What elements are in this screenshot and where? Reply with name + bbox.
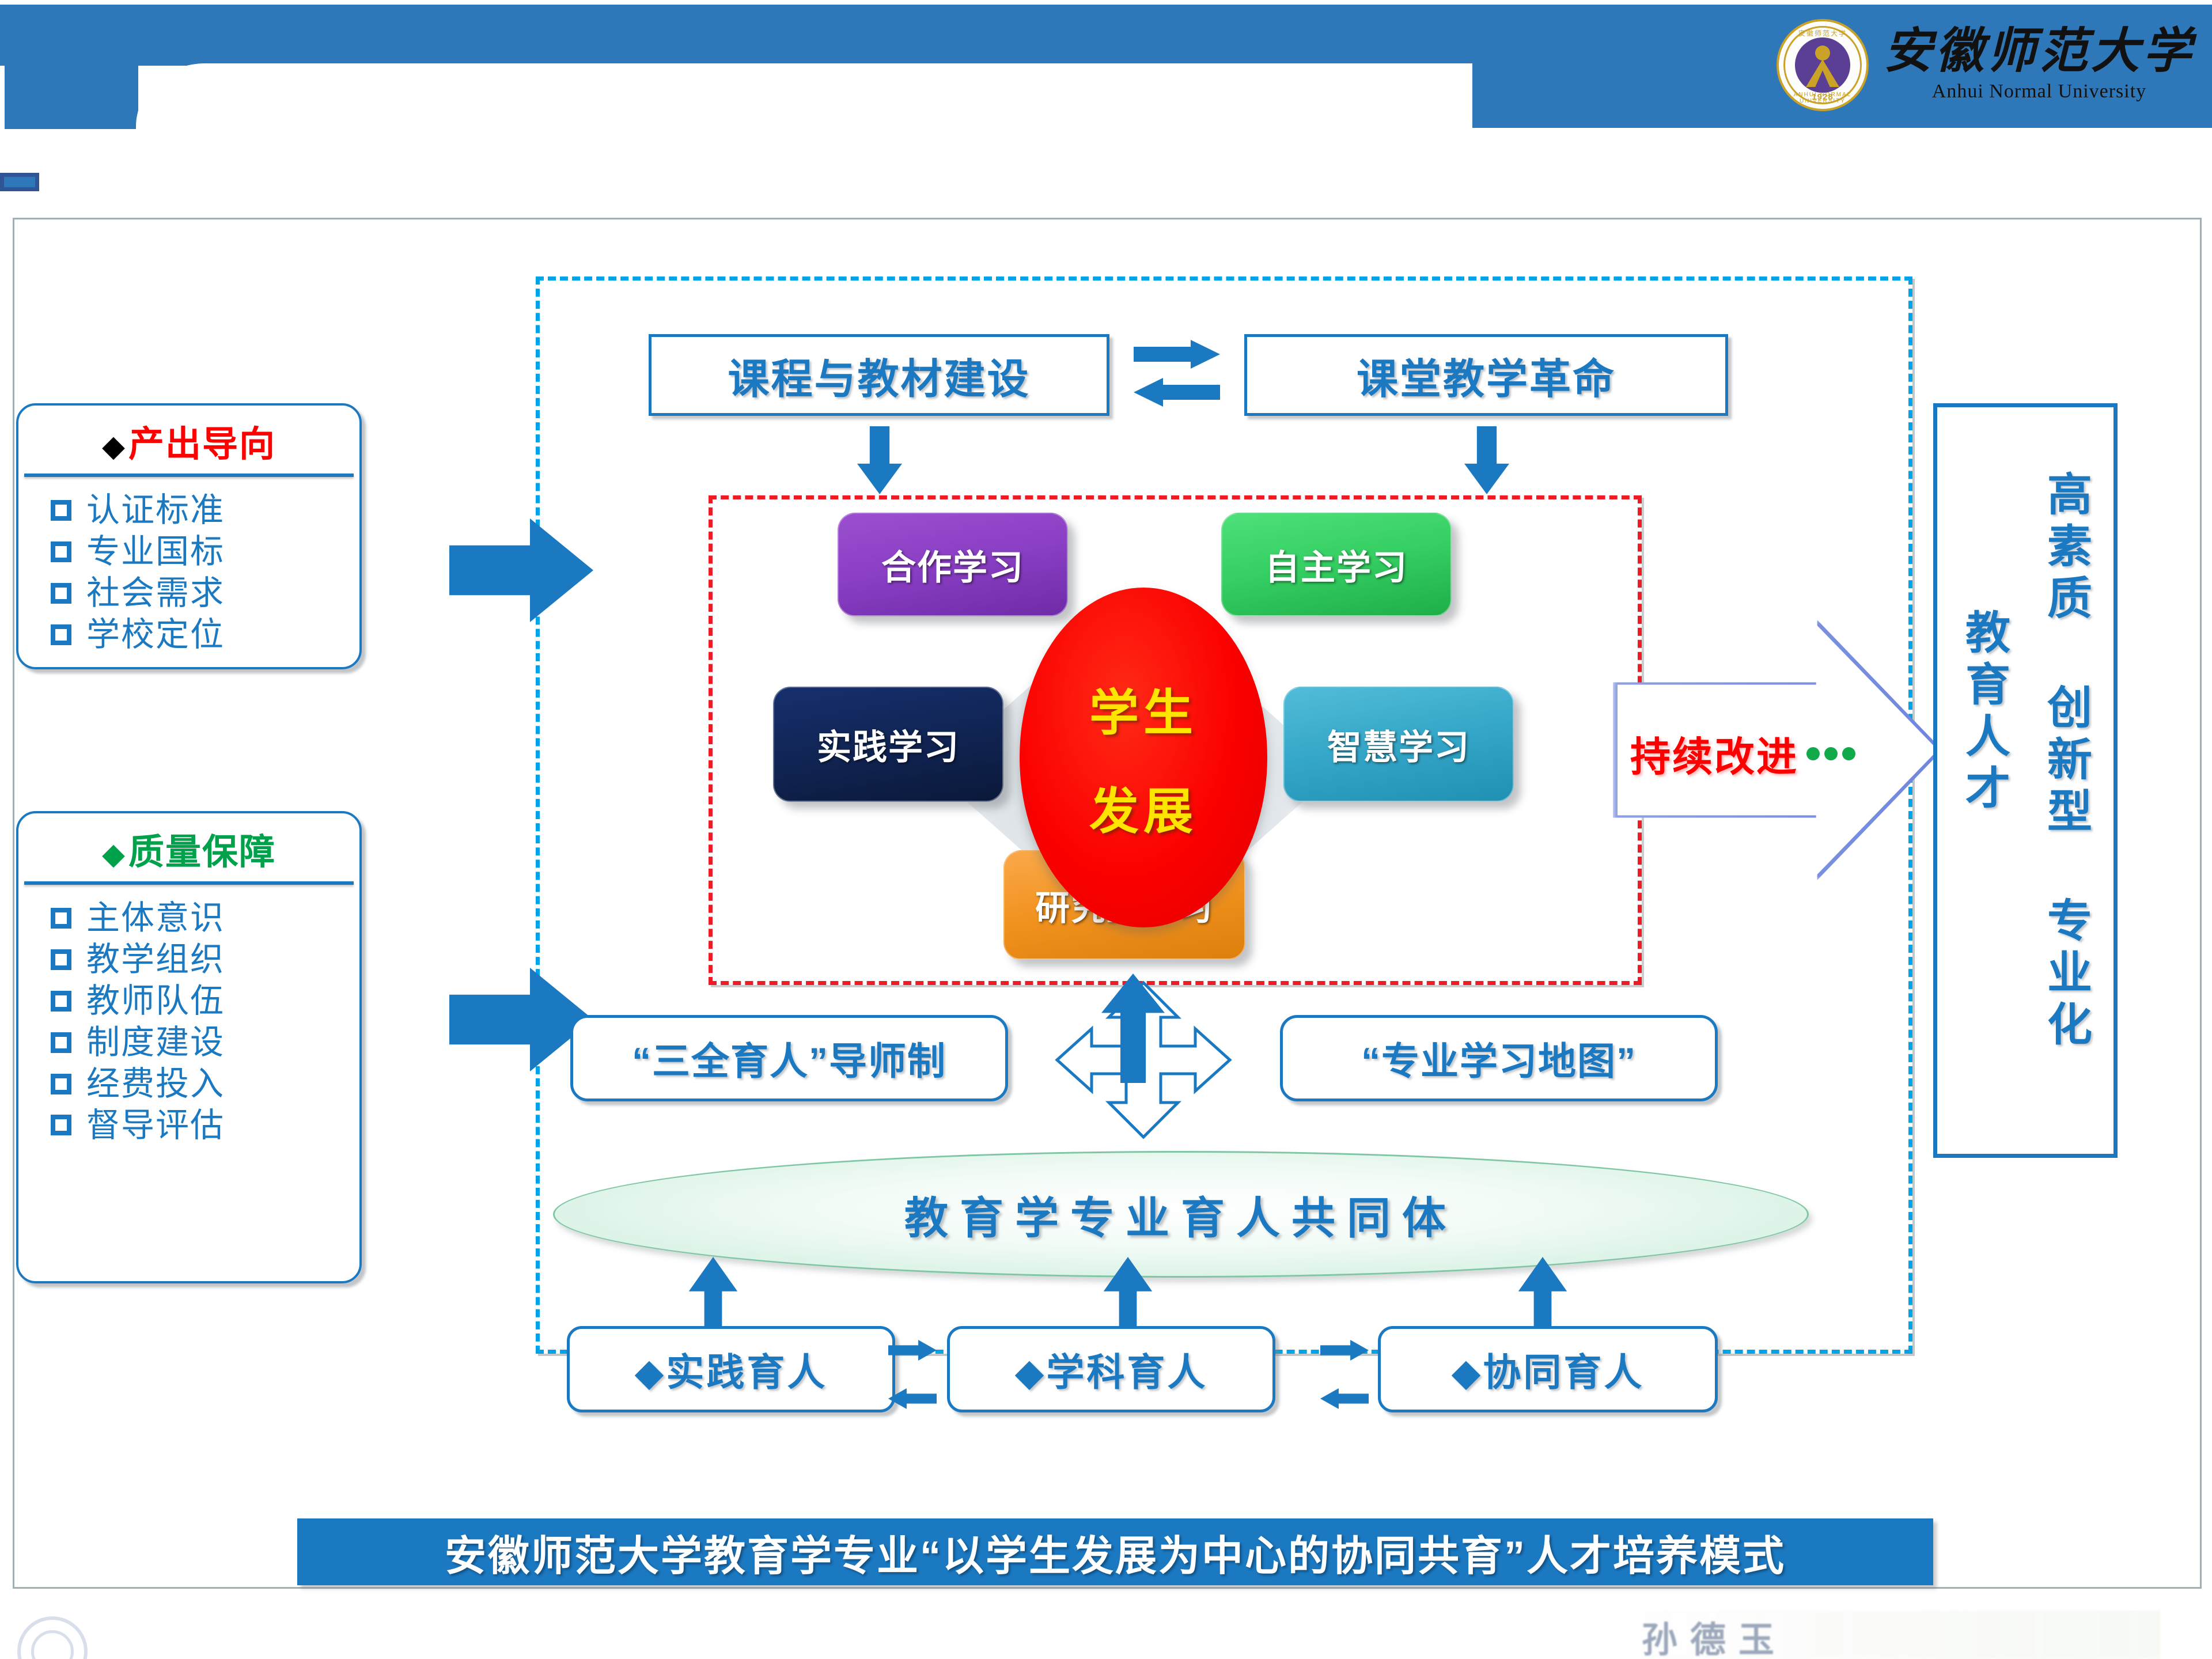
checkbox-icon <box>51 908 71 929</box>
box-discipline-education[interactable]: ◆学科育人 <box>947 1326 1275 1412</box>
node-label: 合作学习 <box>881 540 1024 590</box>
checkbox-icon <box>51 1074 71 1094</box>
card-quality-list: 主体意识 教学组织 教师队伍 制度建设 经费投入 督导评估 <box>18 885 359 1156</box>
seal-core <box>1795 37 1850 93</box>
node-label: 自主学习 <box>1265 540 1408 590</box>
checkbox-icon <box>51 541 71 562</box>
box-classroom-revolution[interactable]: 课堂教学革命 <box>1244 334 1728 416</box>
card-quality-title: ◆质量保障 <box>18 813 359 881</box>
box-curriculum-textbook[interactable]: 课程与教材建设 <box>649 334 1109 416</box>
arrow-right-icon <box>1134 340 1220 369</box>
pill-mentor-label: “三全育人”导师制 <box>632 1031 946 1086</box>
list-item[interactable]: 教师队伍 <box>51 980 359 1022</box>
box-collaborative-education[interactable]: ◆协同育人 <box>1378 1326 1718 1412</box>
card-output-title: ◆产出导向 <box>18 406 359 474</box>
box-classroom-label: 课堂教学革命 <box>1357 345 1616 406</box>
list-item[interactable]: 认证标准 <box>51 490 359 531</box>
seal-bottom-text: ANHUI NORMAL UNIVERSITY <box>1779 92 1866 104</box>
card-output-orientation[interactable]: ◆产出导向 认证标准 专业国标 社会需求 学校定位 <box>16 403 362 669</box>
list-item-label: 制度建设 <box>86 1022 225 1063</box>
box-practice-label: ◆实践育人 <box>635 1342 828 1397</box>
card-output-list: 认证标准 专业国标 社会需求 学校定位 <box>18 477 359 666</box>
arrow-right-icon <box>1320 1340 1369 1361</box>
core-label-line2: 发展 <box>1089 771 1198 843</box>
node-autonomous-learning[interactable]: 自主学习 <box>1221 513 1452 616</box>
community-ellipse[interactable]: 教育学专业育人共同体 <box>553 1151 1809 1278</box>
university-name-cn: 安徽师范大学 <box>1884 28 2195 76</box>
list-item-label: 教师队伍 <box>86 980 225 1022</box>
core-label-line1: 学生 <box>1089 672 1198 744</box>
outcome-box[interactable]: 高素质 创新型 专业化 教育人才 <box>1933 403 2118 1158</box>
continuous-improvement-label: 持续改进 <box>1630 725 1798 783</box>
slide-caption-banner: 安徽师范大学教育学专业“以学生发展为中心的协同共育”人才培养模式 <box>297 1518 1933 1585</box>
list-item[interactable]: 制度建设 <box>51 1022 359 1063</box>
card-quality-title-text: 质量保障 <box>128 832 276 872</box>
checkbox-icon <box>51 991 71 1012</box>
university-seal-icon: 安徽师范大学 1928 ANHUI NORMAL UNIVERSITY <box>1777 19 1869 111</box>
node-smart-learning[interactable]: 智慧学习 <box>1283 687 1514 802</box>
list-item[interactable]: 社会需求 <box>51 573 359 614</box>
checkbox-icon <box>51 583 71 604</box>
list-item[interactable]: 经费投入 <box>51 1063 359 1105</box>
bidirectional-arrows-icon <box>1320 1340 1372 1409</box>
university-name-block: 安徽师范大学 Anhui Normal University <box>1884 28 2195 103</box>
ellipsis-dots-icon <box>1806 747 1855 760</box>
checkbox-icon <box>51 500 71 521</box>
arrow-left-icon <box>1320 1388 1369 1409</box>
node-cooperative-learning[interactable]: 合作学习 <box>838 513 1068 616</box>
community-label: 教育学专业育人共同体 <box>904 1183 1457 1246</box>
university-logo: 安徽师范大学 1928 ANHUI NORMAL UNIVERSITY 安徽师范… <box>1777 16 2195 114</box>
node-practice-learning[interactable]: 实践学习 <box>773 687 1003 802</box>
checkbox-icon <box>51 624 71 645</box>
university-name-en: Anhui Normal University <box>1932 81 2146 103</box>
diamond-icon: ◆ <box>102 838 126 871</box>
list-item-label: 社会需求 <box>86 573 225 614</box>
core-student-development[interactable]: 学生 发展 <box>1020 588 1267 927</box>
continuous-improvement-label-wrap: 持续改进 <box>1630 725 1907 783</box>
list-item-label: 认证标准 <box>86 490 225 531</box>
box-collaborative-label: ◆协同育人 <box>1452 1342 1645 1397</box>
watermark-right-text: 孙德玉 <box>1642 1611 2160 1659</box>
bidirectional-arrows-icon <box>888 1340 940 1409</box>
checkbox-icon <box>51 1032 71 1053</box>
seal-figure-icon <box>1806 59 1839 87</box>
list-item-label: 学校定位 <box>86 614 225 656</box>
outcome-column-2: 教育人才 <box>1952 609 2017 816</box>
bidirectional-arrows-icon <box>1129 335 1233 416</box>
watermark-left-logo <box>6 1613 144 1659</box>
box-practice-education[interactable]: ◆实践育人 <box>567 1326 895 1412</box>
arrow-right-icon <box>888 1340 937 1361</box>
header-notch <box>136 63 1472 132</box>
list-item[interactable]: 学校定位 <box>51 614 359 656</box>
pill-learning-map[interactable]: “专业学习地图” <box>1280 1015 1718 1101</box>
arrow-left-icon <box>888 1388 937 1409</box>
outcome-column-1: 高素质 创新型 专业化 <box>2034 471 2099 1052</box>
pill-map-label: “专业学习地图” <box>1361 1031 1637 1086</box>
arrow-left-icon <box>1134 378 1220 407</box>
box-discipline-label: ◆学科育人 <box>1015 1342 1208 1397</box>
list-item-label: 经费投入 <box>86 1063 225 1105</box>
checkbox-icon <box>51 1115 71 1135</box>
list-item[interactable]: 教学组织 <box>51 939 359 980</box>
node-label: 智慧学习 <box>1327 719 1470 770</box>
list-item-label: 主体意识 <box>86 897 225 939</box>
card-quality-assurance[interactable]: ◆质量保障 主体意识 教学组织 教师队伍 制度建设 经费投入 督导评估 <box>16 811 362 1283</box>
diamond-icon: ◆ <box>102 430 126 463</box>
pill-mentor-system[interactable]: “三全育人”导师制 <box>570 1015 1008 1101</box>
list-item-label: 专业国标 <box>86 531 225 573</box>
list-item[interactable]: 专业国标 <box>51 531 359 573</box>
list-item[interactable]: 主体意识 <box>51 897 359 939</box>
checkbox-icon <box>51 949 71 970</box>
box-curriculum-label: 课程与教材建设 <box>728 345 1030 406</box>
slide-canvas: 安徽师范大学 1928 ANHUI NORMAL UNIVERSITY 安徽师范… <box>0 0 2212 1659</box>
node-label: 实践学习 <box>817 719 960 770</box>
list-item-label: 督导评估 <box>86 1105 225 1146</box>
seal-top-text: 安徽师范大学 <box>1779 28 1866 38</box>
list-item-label: 教学组织 <box>86 939 225 980</box>
header-accent-block <box>0 173 39 191</box>
header-left-bar <box>5 5 138 129</box>
list-item[interactable]: 督导评估 <box>51 1105 359 1146</box>
card-output-title-text: 产出导向 <box>128 425 276 464</box>
slide-caption-text: 安徽师范大学教育学专业“以学生发展为中心的协同共育”人才培养模式 <box>445 1522 1786 1582</box>
